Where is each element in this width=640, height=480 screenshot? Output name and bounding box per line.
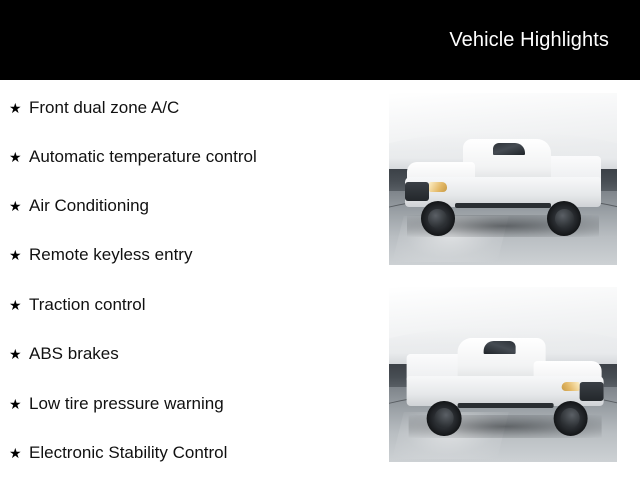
star-bullet-icon: ★	[9, 343, 29, 365]
page-title: Vehicle Highlights	[449, 29, 609, 51]
star-bullet-icon: ★	[9, 393, 29, 415]
showroom-scene	[389, 93, 617, 265]
star-bullet-icon: ★	[9, 146, 29, 168]
truck-grille	[580, 382, 604, 401]
list-item: ★ Front dual zone A/C	[9, 97, 179, 119]
list-item: ★ Traction control	[9, 294, 146, 316]
truck-cab	[457, 338, 545, 378]
truck-cab	[463, 139, 551, 179]
content-area: ★ Front dual zone A/C ★ Automatic temper…	[0, 80, 640, 480]
truck-rear-wheel	[427, 401, 461, 436]
truck-windows	[493, 143, 525, 156]
pickup-truck-graphic	[403, 139, 604, 225]
star-bullet-icon: ★	[9, 195, 29, 217]
header-bar: Vehicle Highlights	[0, 0, 640, 80]
truck-rear-wheel	[547, 201, 581, 235]
truck-running-board	[457, 403, 553, 408]
truck-front-wheel	[421, 201, 455, 235]
star-bullet-icon: ★	[9, 244, 29, 266]
truck-windows	[484, 341, 516, 354]
list-item: ★ Low tire pressure warning	[9, 393, 224, 415]
truck-headlight	[561, 382, 579, 392]
list-item: ★ Air Conditioning	[9, 195, 149, 217]
star-bullet-icon: ★	[9, 442, 29, 464]
feature-label: ABS brakes	[29, 343, 119, 365]
list-item: ★ Remote keyless entry	[9, 244, 192, 266]
star-bullet-icon: ★	[9, 97, 29, 119]
showroom-scene	[389, 287, 617, 462]
list-item: ★ ABS brakes	[9, 343, 119, 365]
feature-label: Remote keyless entry	[29, 244, 192, 266]
feature-label: Electronic Stability Control	[29, 442, 227, 464]
feature-label: Traction control	[29, 294, 146, 316]
truck-headlight	[429, 182, 447, 191]
feature-label: Front dual zone A/C	[29, 97, 179, 119]
vehicle-photo-passenger-side[interactable]	[389, 287, 617, 462]
vehicle-photo-front-three-quarter[interactable]	[389, 93, 617, 265]
star-bullet-icon: ★	[9, 294, 29, 316]
list-item: ★ Electronic Stability Control	[9, 442, 227, 464]
truck-grille	[405, 182, 429, 201]
feature-label: Low tire pressure warning	[29, 393, 224, 415]
list-item: ★ Automatic temperature control	[9, 146, 257, 168]
truck-front-wheel	[553, 401, 587, 436]
pickup-truck-graphic	[405, 338, 606, 426]
feature-label: Automatic temperature control	[29, 146, 257, 168]
feature-label: Air Conditioning	[29, 195, 149, 217]
truck-running-board	[455, 203, 551, 208]
